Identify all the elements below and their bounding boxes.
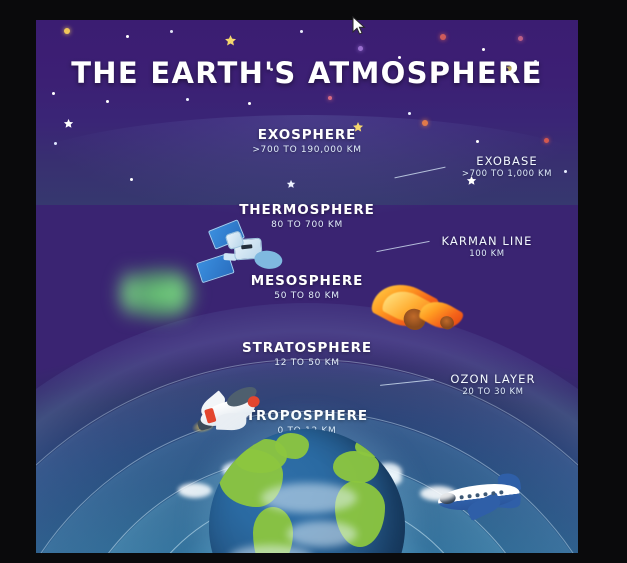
callout-name: OZON LAYER <box>418 372 568 386</box>
star-dot <box>440 34 446 40</box>
layer-label-mesosphere: MESOSPHERE 50 TO 80 KM <box>36 273 578 301</box>
page-title: THE EARTH'S ATMOSPHERE <box>36 56 578 90</box>
continent-scandinavia <box>355 437 387 457</box>
earth-globe <box>209 429 405 553</box>
star-dot <box>482 48 485 51</box>
star-dot <box>408 112 411 115</box>
layer-name: EXOSPHERE <box>36 127 578 143</box>
callout-ozon-layer: OZON LAYER 20 TO 30 KM <box>418 372 568 397</box>
star-dot <box>422 120 428 126</box>
star-icon <box>286 176 296 194</box>
layer-label-thermosphere: THERMOSPHERE 80 TO 700 KM <box>36 202 578 230</box>
star-dot <box>186 98 189 101</box>
star-dot <box>170 30 173 33</box>
cloud <box>178 483 212 498</box>
star-dot <box>328 96 332 100</box>
cloud-band <box>229 545 313 553</box>
satellite-dish <box>253 249 283 270</box>
star-dot <box>64 28 70 34</box>
screenshot-canvas: THE EARTH'S ATMOSPHERE EXOSPHERE >700 TO… <box>0 0 627 563</box>
cloud-band <box>261 483 357 513</box>
layer-range: 12 TO 50 KM <box>36 358 578 368</box>
star-dot <box>248 102 251 105</box>
star-dot <box>358 46 363 51</box>
layer-label-exosphere: EXOSPHERE >700 TO 190,000 KM <box>36 127 578 155</box>
star-dot <box>106 100 109 103</box>
star-dot <box>300 30 303 33</box>
atmosphere-infographic: THE EARTH'S ATMOSPHERE EXOSPHERE >700 TO… <box>36 20 578 553</box>
shuttle-wing <box>216 413 247 431</box>
callout-range: >700 TO 1,000 KM <box>432 169 578 179</box>
cloud-band <box>287 521 357 547</box>
cloud <box>420 486 456 501</box>
star-dot <box>518 36 523 41</box>
star-dot <box>52 92 55 95</box>
layer-range: 50 TO 80 KM <box>36 291 578 301</box>
layer-name: TROPOSPHERE <box>36 408 578 424</box>
continent-greenland <box>275 433 309 459</box>
layer-label-stratosphere: STRATOSPHERE 12 TO 50 KM <box>36 340 578 368</box>
star-icon <box>224 34 237 52</box>
layer-name: MESOSPHERE <box>36 273 578 289</box>
callout-exobase: EXOBASE >700 TO 1,000 KM <box>432 154 578 179</box>
mouse-cursor <box>352 16 366 36</box>
callout-range: 100 KM <box>412 249 562 259</box>
callout-karman-line: KARMAN LINE 100 KM <box>412 234 562 259</box>
star-dot <box>130 178 133 181</box>
layer-range: 80 TO 700 KM <box>36 220 578 230</box>
callout-range: 20 TO 30 KM <box>418 387 568 397</box>
star-dot <box>126 35 129 38</box>
callout-name: KARMAN LINE <box>412 234 562 248</box>
layer-name: STRATOSPHERE <box>36 340 578 356</box>
callout-name: EXOBASE <box>432 154 578 168</box>
layer-name: THERMOSPHERE <box>36 202 578 218</box>
